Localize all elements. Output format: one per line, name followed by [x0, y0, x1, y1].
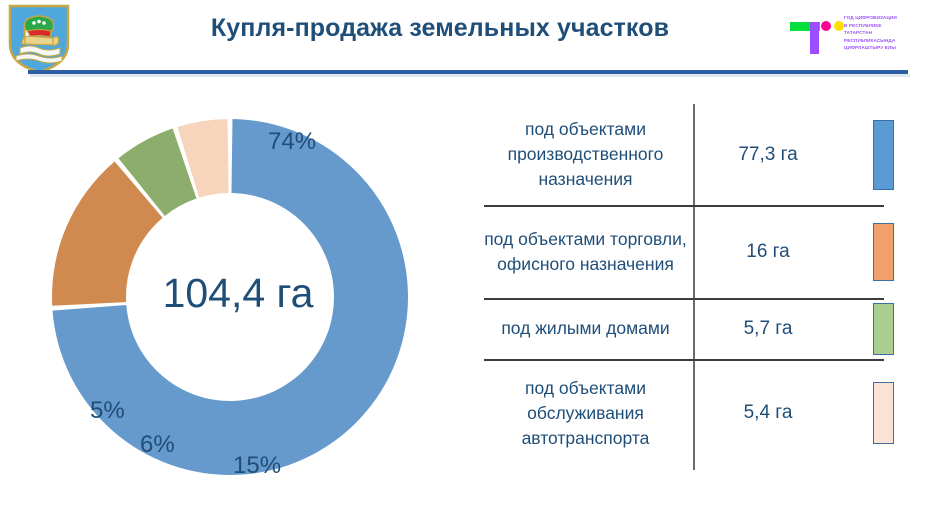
slice-label-trade: 15% — [233, 452, 281, 480]
table-row[interactable]: под объектами обслуживания автотранспорт… — [484, 359, 924, 467]
row-category-label: под объектами обслуживания автотранспорт… — [484, 376, 693, 451]
row-color-bar — [873, 303, 894, 355]
legend-table: под объектами производственного назначен… — [484, 104, 924, 470]
row-value-label: 16 га — [693, 241, 843, 263]
row-bar-cell — [843, 303, 924, 355]
row-category-label: под жилыми домами — [484, 316, 693, 341]
logo-caption-line-5: ЦИФРЛАШТЫРУ ЕЛЫ — [844, 44, 928, 52]
row-color-bar — [873, 382, 894, 444]
row-color-bar — [873, 120, 894, 190]
row-bar-cell — [843, 223, 924, 281]
logo-caption-line-1: ГОД ЦИФРОВИЗАЦИИ — [844, 14, 928, 22]
row-value-label: 77,3 га — [693, 144, 843, 166]
kazan-coat-of-arms-emblem — [8, 4, 70, 74]
donut-center-total: 104,4 га — [18, 270, 458, 317]
logo-caption: ГОД ЦИФРОВИЗАЦИИ В РЕСПУБЛИКЕ ТАТАРСТАН … — [844, 14, 928, 52]
slice-label-production: 74% — [268, 128, 316, 156]
logo-caption-line-2: В РЕСПУБЛИКЕ — [844, 22, 928, 30]
table-row[interactable]: под объектами торговли, офисного назначе… — [484, 205, 924, 298]
logo-purple-stem — [810, 22, 819, 54]
logo-caption-line-3: ТАТАРСТАН — [844, 29, 928, 37]
donut-chart: 104,4 га 74% 15% 6% 5% — [18, 92, 458, 510]
row-category-label: под объектами торговли, офисного назначе… — [484, 227, 693, 277]
row-color-bar — [873, 223, 894, 281]
tatarstan-year-of-digitalization-logo: ГОД ЦИФРОВИЗАЦИИ В РЕСПУБЛИКЕ ТАТАРСТАН … — [784, 8, 926, 56]
table-row[interactable]: под объектами производственного назначен… — [484, 104, 924, 205]
tatarstan-t-mark-icon — [790, 14, 836, 54]
row-value-label: 5,4 га — [693, 402, 843, 424]
slice-label-autoservice: 5% — [90, 397, 125, 425]
row-category-label: под объектами производственного назначен… — [484, 117, 693, 192]
header-divider-shadow — [30, 74, 910, 77]
slice-label-housing: 6% — [140, 431, 175, 459]
row-bar-cell — [843, 120, 924, 190]
row-bar-cell — [843, 382, 924, 444]
logo-caption-line-4: РЕСПУБЛИКАСЫНДА — [844, 37, 928, 45]
table-row[interactable]: под жилыми домами5,7 га — [484, 298, 924, 359]
row-value-label: 5,7 га — [693, 318, 843, 340]
page-header: Купля-продажа земельных участков ГОД ЦИФ… — [0, 0, 932, 82]
page-title: Купля-продажа земельных участков — [120, 14, 760, 43]
logo-pink-dot-icon — [821, 21, 831, 31]
logo-yellow-dot-icon — [834, 21, 844, 31]
